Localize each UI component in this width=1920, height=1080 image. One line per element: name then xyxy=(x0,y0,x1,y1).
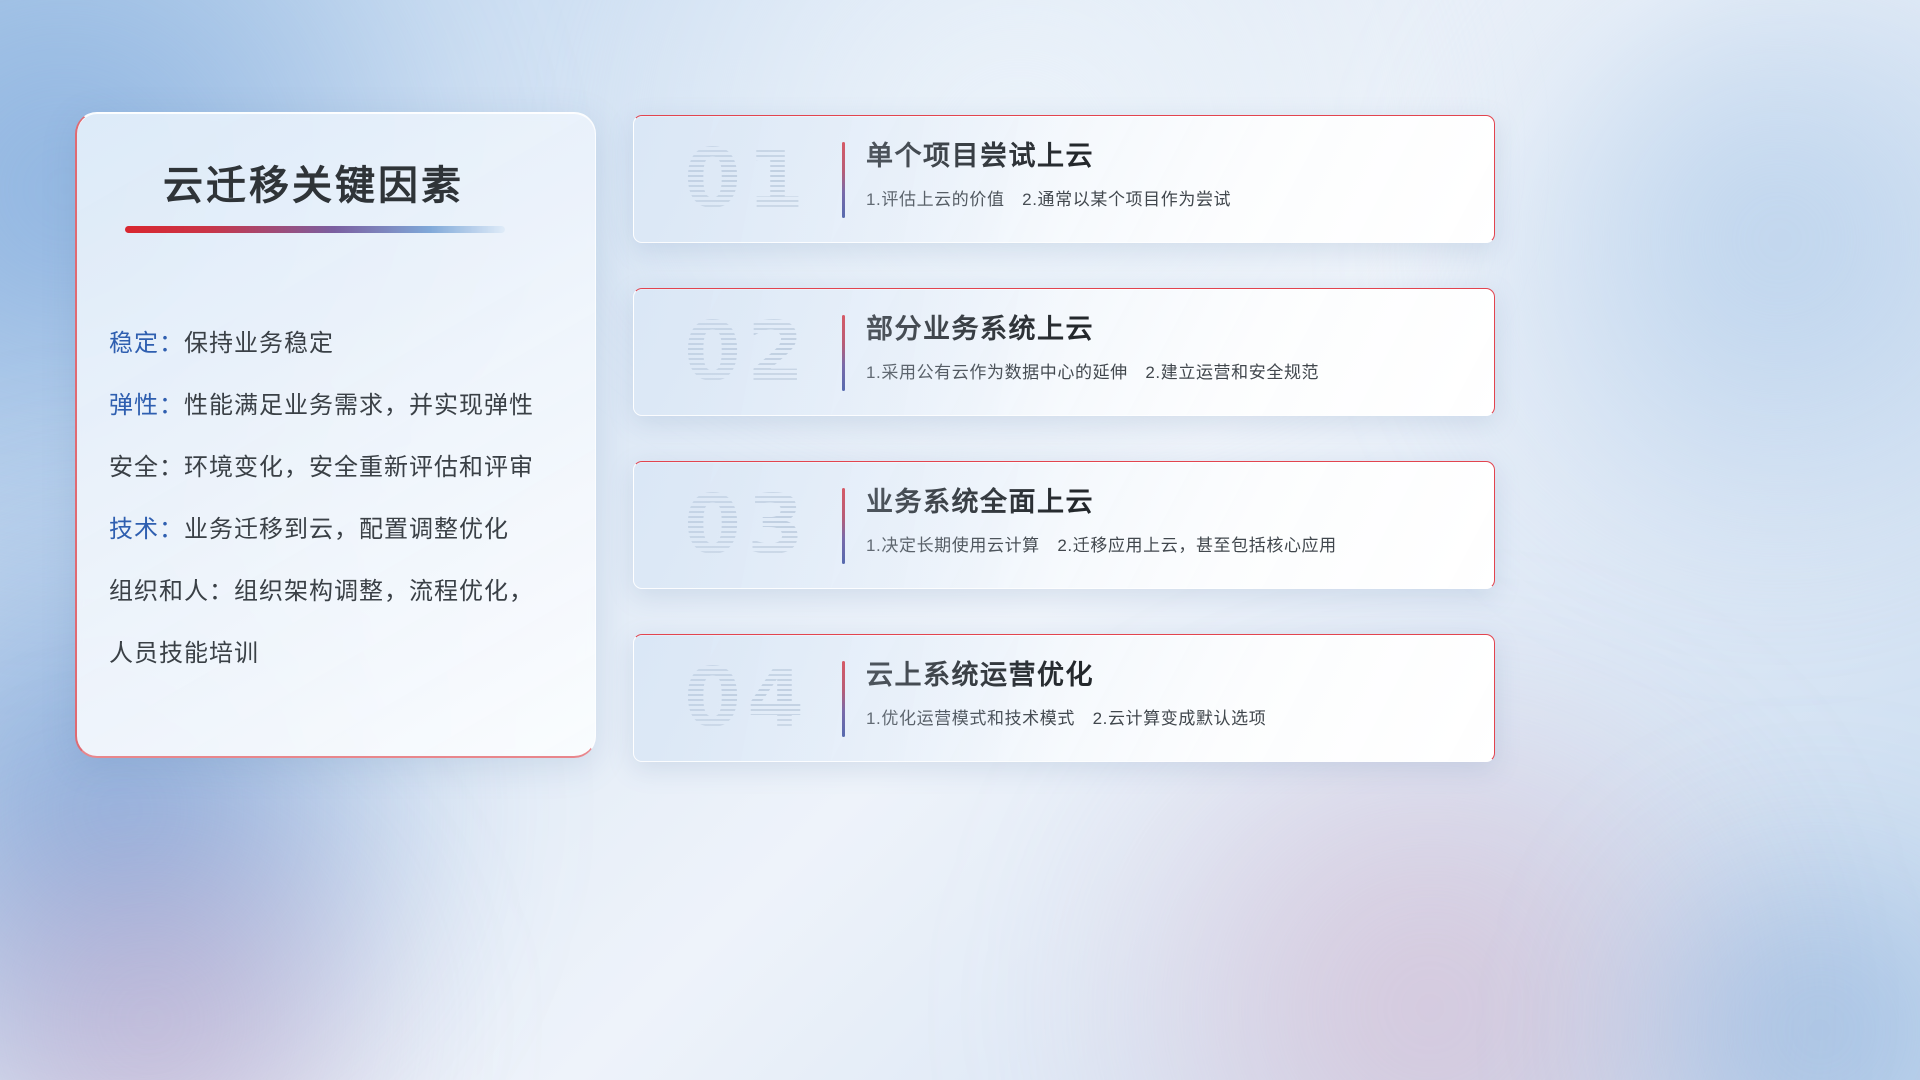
stage-card[interactable]: 03业务系统全面上云1.决定长期使用云计算 2.迁移应用上云，甚至包括核心应用 xyxy=(633,461,1495,589)
key-factor-label: 弹性： xyxy=(109,392,184,419)
key-factor-line: 人员技能培训 xyxy=(109,623,571,685)
key-factor-label: 技术： xyxy=(109,516,184,543)
stage-number-watermark: 02 xyxy=(662,303,832,403)
key-factor-text: 人员技能培训 xyxy=(109,640,259,667)
key-factor-line: 稳定：保持业务稳定 xyxy=(109,313,571,375)
key-factor-text: 环境变化，安全重新评估和评审 xyxy=(184,454,534,481)
key-factor-text: 业务迁移到云，配置调整优化 xyxy=(184,516,509,543)
stages-card-list: 01单个项目尝试上云1.评估上云的价值 2.通常以某个项目作为尝试02部分业务系… xyxy=(633,115,1495,807)
stage-number-watermark: 01 xyxy=(662,130,832,230)
title-underline-accent xyxy=(125,226,505,233)
stage-divider-bar xyxy=(842,488,845,564)
key-factor-label: 稳定： xyxy=(109,330,184,357)
key-factor-label: 组织和人： xyxy=(109,578,234,605)
stage-number-watermark: 04 xyxy=(662,649,832,749)
stage-card[interactable]: 01单个项目尝试上云1.评估上云的价值 2.通常以某个项目作为尝试 xyxy=(633,115,1495,243)
stage-description: 1.评估上云的价值 2.通常以某个项目作为尝试 xyxy=(866,188,1476,212)
key-factor-line: 弹性：性能满足业务需求，并实现弹性 xyxy=(109,375,571,437)
stage-card-body: 业务系统全面上云1.决定长期使用云计算 2.迁移应用上云，甚至包括核心应用 xyxy=(866,482,1476,558)
stage-description: 1.优化运营模式和技术模式 2.云计算变成默认选项 xyxy=(866,707,1476,731)
stage-divider-bar xyxy=(842,661,845,737)
key-factor-line: 组织和人：组织架构调整，流程优化， xyxy=(109,561,571,623)
key-factor-line: 安全：环境变化，安全重新评估和评审 xyxy=(109,437,571,499)
stage-title: 云上系统运营优化 xyxy=(866,655,1476,695)
key-factors-panel: 云迁移关键因素 稳定：保持业务稳定弹性：性能满足业务需求，并实现弹性安全：环境变… xyxy=(75,112,596,758)
stage-title: 部分业务系统上云 xyxy=(866,309,1476,349)
key-factor-line: 技术：业务迁移到云，配置调整优化 xyxy=(109,499,571,561)
stage-card[interactable]: 02部分业务系统上云1.采用公有云作为数据中心的延伸 2.建立运营和安全规范 xyxy=(633,288,1495,416)
key-factor-text: 性能满足业务需求，并实现弹性 xyxy=(184,392,534,419)
stage-description: 1.决定长期使用云计算 2.迁移应用上云，甚至包括核心应用 xyxy=(866,534,1476,558)
stage-divider-bar xyxy=(842,315,845,391)
stage-card-body: 单个项目尝试上云1.评估上云的价值 2.通常以某个项目作为尝试 xyxy=(866,136,1476,212)
stage-description: 1.采用公有云作为数据中心的延伸 2.建立运营和安全规范 xyxy=(866,361,1476,385)
key-factor-text: 保持业务稳定 xyxy=(184,330,334,357)
key-factor-text: 组织架构调整，流程优化， xyxy=(234,578,534,605)
page-title: 云迁移关键因素 xyxy=(163,153,464,211)
stage-title: 业务系统全面上云 xyxy=(866,482,1476,522)
stage-card-body: 部分业务系统上云1.采用公有云作为数据中心的延伸 2.建立运营和安全规范 xyxy=(866,309,1476,385)
stage-card[interactable]: 04云上系统运营优化1.优化运营模式和技术模式 2.云计算变成默认选项 xyxy=(633,634,1495,762)
key-factors-list: 稳定：保持业务稳定弹性：性能满足业务需求，并实现弹性安全：环境变化，安全重新评估… xyxy=(109,313,571,685)
stage-number-watermark: 03 xyxy=(662,476,832,576)
stage-title: 单个项目尝试上云 xyxy=(866,136,1476,176)
stage-card-body: 云上系统运营优化1.优化运营模式和技术模式 2.云计算变成默认选项 xyxy=(866,655,1476,731)
key-factor-label: 安全： xyxy=(109,454,184,481)
stage-divider-bar xyxy=(842,142,845,218)
